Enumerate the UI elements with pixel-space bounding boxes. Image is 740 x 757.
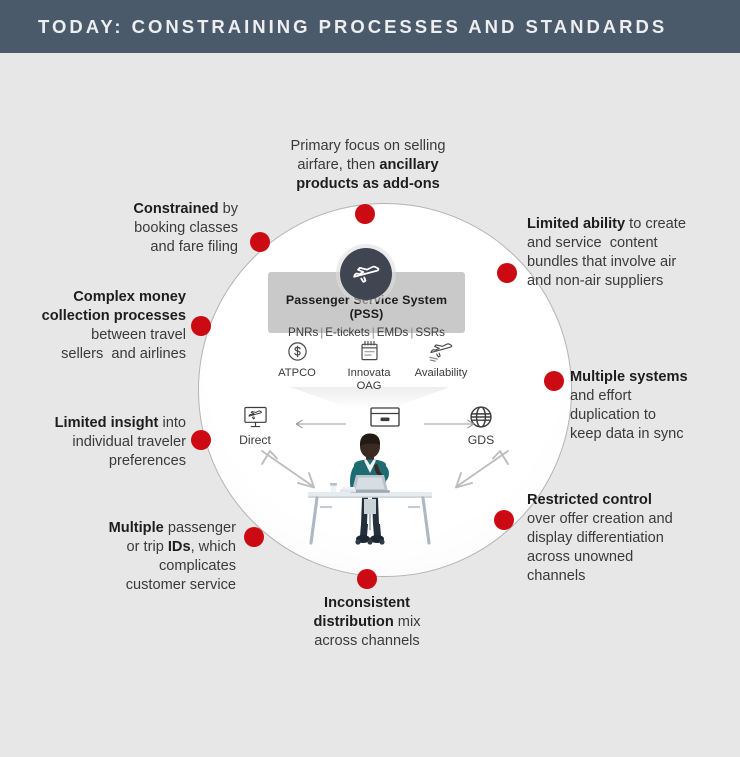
callout-line: Multiple passenger bbox=[62, 519, 236, 538]
callout-line: bundles that involve air bbox=[527, 253, 727, 272]
dollar-circle-icon bbox=[262, 338, 332, 364]
callout-line: and fare filing bbox=[48, 238, 238, 257]
callout-line: products as add-ons bbox=[262, 175, 474, 194]
dot-complex-money[interactable] bbox=[191, 316, 211, 336]
source-availability: Availability bbox=[406, 338, 476, 393]
callout-primary-focus: Primary focus on sellingairfare, then an… bbox=[262, 137, 474, 194]
dot-multiple-systems[interactable] bbox=[544, 371, 564, 391]
callout-line: collection processes bbox=[10, 307, 186, 326]
callout-restricted-control-offers: Restricted controlover offer creation an… bbox=[527, 491, 727, 586]
calendar-notepad-icon bbox=[334, 338, 404, 364]
person-at-desk-with-laptop-illustration bbox=[306, 432, 434, 548]
callout-line: Constrained by bbox=[48, 200, 238, 219]
callout-line: display differentiation bbox=[527, 529, 727, 548]
callout-line: between travel bbox=[10, 326, 186, 345]
callout-line: over offer creation and bbox=[527, 510, 727, 529]
channel-direct: Direct bbox=[224, 402, 286, 447]
callout-line: Restricted control bbox=[527, 491, 727, 510]
source-label: Availability bbox=[406, 367, 476, 380]
callout-line: channels bbox=[527, 567, 727, 586]
channel-label: GDS bbox=[450, 433, 512, 447]
callout-line: individual traveler bbox=[14, 433, 186, 452]
callout-line: keep data in sync bbox=[570, 425, 735, 444]
source-label: ATPCO bbox=[262, 367, 332, 380]
callout-line: Limited insight into bbox=[14, 414, 186, 433]
callout-line: customer service bbox=[62, 576, 236, 595]
page-title: TODAY: CONSTRAINING PROCESSES AND STANDA… bbox=[38, 16, 667, 38]
callout-line: Limited ability to create bbox=[527, 215, 727, 234]
callout-line: Multiple systems bbox=[570, 368, 735, 387]
callout-line: and service content bbox=[527, 234, 727, 253]
dot-restricted-control[interactable] bbox=[494, 510, 514, 530]
callout-line: duplication to bbox=[570, 406, 735, 425]
callout-line: sellers and airlines bbox=[10, 345, 186, 364]
airplane-icon bbox=[340, 248, 392, 300]
callout-line: and non-air suppliers bbox=[527, 272, 727, 291]
callout-multiple-passenger-ids: Multiple passengeror trip IDs, whichcomp… bbox=[62, 519, 236, 595]
callout-line: across unowned bbox=[527, 548, 727, 567]
callout-line: across channels bbox=[272, 632, 462, 651]
airplane-outline-icon bbox=[406, 338, 476, 364]
arrow-center-to-direct bbox=[290, 418, 352, 430]
callout-line: and effort bbox=[570, 387, 735, 406]
callout-line: or trip IDs, which bbox=[62, 538, 236, 557]
channel-label: Direct bbox=[224, 433, 286, 447]
source-innovata-oag: InnovataOAG bbox=[334, 338, 404, 393]
callout-limited-ability-bundles: Limited ability to createand service con… bbox=[527, 215, 727, 291]
callout-complex-money-collection: Complex moneycollection processesbetween… bbox=[10, 288, 186, 364]
callout-line: Complex money bbox=[10, 288, 186, 307]
dot-limited-ability[interactable] bbox=[497, 263, 517, 283]
callout-constrained-booking-classes: Constrained bybooking classesand fare fi… bbox=[48, 200, 238, 257]
content-source-row: ATPCO InnovataOAG Availab bbox=[262, 338, 476, 393]
callout-line: distribution mix bbox=[272, 613, 462, 632]
monitor-airplane-icon bbox=[224, 402, 286, 432]
callout-line: complicates bbox=[62, 557, 236, 576]
callout-line: Primary focus on selling bbox=[262, 137, 474, 156]
callout-inconsistent-distribution: Inconsistentdistribution mixacross chann… bbox=[272, 594, 462, 651]
dot-inconsistent[interactable] bbox=[357, 569, 377, 589]
callout-line: booking classes bbox=[48, 219, 238, 238]
callout-line: Inconsistent bbox=[272, 594, 462, 613]
dot-primary-focus[interactable] bbox=[355, 204, 375, 224]
callout-line: airfare, then ancillary bbox=[262, 156, 474, 175]
callout-limited-insight-traveler: Limited insight intoindividual travelerp… bbox=[14, 414, 186, 471]
callout-line: preferences bbox=[14, 452, 186, 471]
dot-multiple-ids[interactable] bbox=[244, 527, 264, 547]
source-label: InnovataOAG bbox=[334, 367, 404, 393]
callout-multiple-systems-duplication: Multiple systemsand effortduplication to… bbox=[570, 368, 735, 444]
diagram-canvas: TODAY: CONSTRAINING PROCESSES AND STANDA… bbox=[0, 0, 740, 757]
arrow-center-to-gds bbox=[418, 418, 480, 430]
dot-constrained[interactable] bbox=[250, 232, 270, 252]
page-header-bar: TODAY: CONSTRAINING PROCESSES AND STANDA… bbox=[0, 0, 740, 53]
source-atpco: ATPCO bbox=[262, 338, 332, 393]
